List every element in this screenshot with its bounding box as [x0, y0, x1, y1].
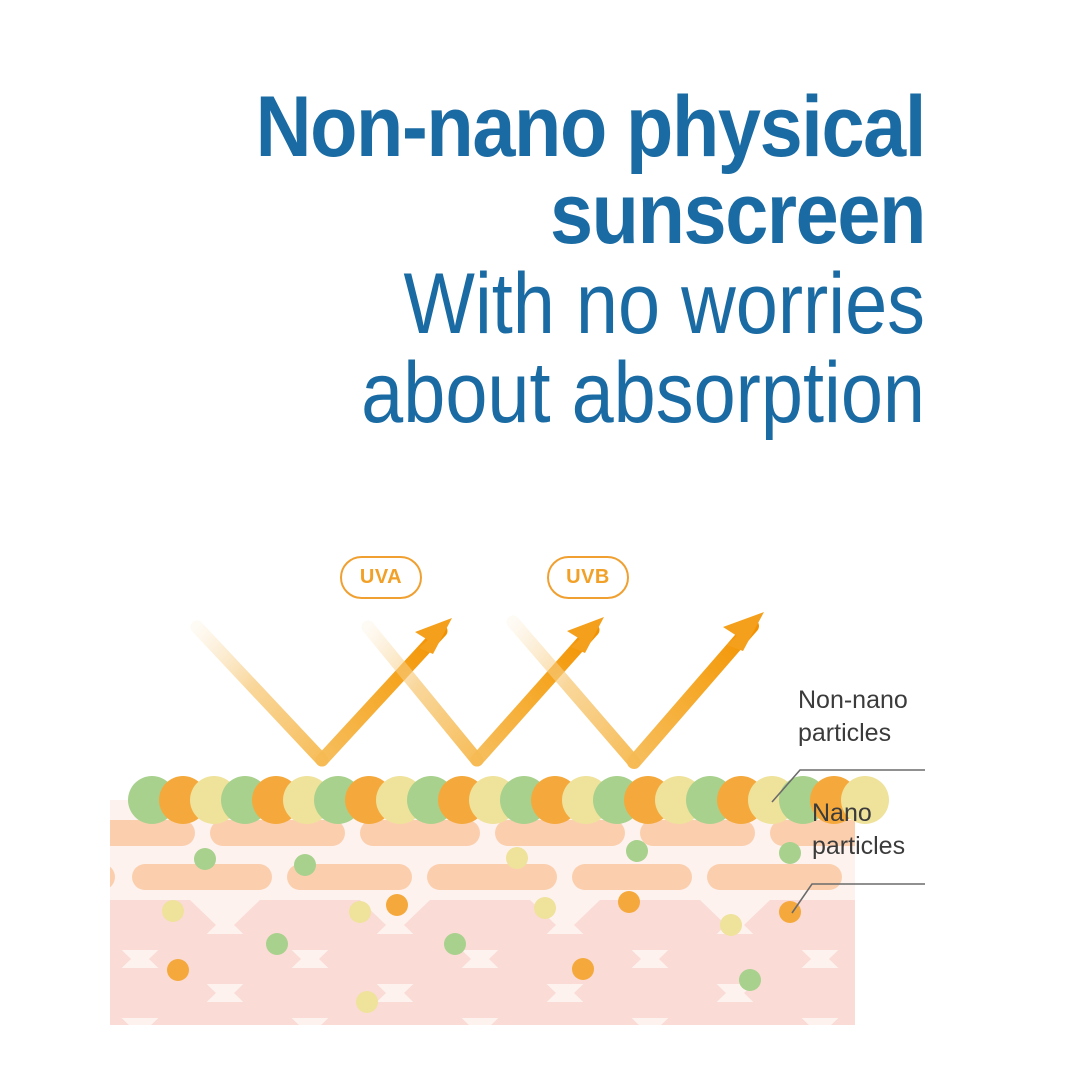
- nano-particle: [618, 891, 640, 913]
- nano-particle: [779, 842, 801, 864]
- dermis-cell-layer: [0, 900, 981, 1052]
- nano-particle: [266, 933, 288, 955]
- non-nano-particles-label: Non-nano particles: [798, 684, 908, 750]
- nano-particle: [349, 901, 371, 923]
- nano-particle: [572, 958, 594, 980]
- uv-ray-group: [197, 612, 764, 762]
- nano-particle: [444, 933, 466, 955]
- nano-particle: [294, 854, 316, 876]
- uvb-badge[interactable]: UVB: [547, 556, 629, 599]
- nano-particle: [626, 840, 648, 862]
- nano-particle: [534, 897, 556, 919]
- uv-ray-arrowhead: [415, 618, 452, 654]
- nano-particles-label: Nano particles: [812, 797, 905, 863]
- uv-ray-arrowhead: [567, 617, 604, 653]
- nano-particle: [506, 847, 528, 869]
- nano-particle: [194, 848, 216, 870]
- uva-badge[interactable]: UVA: [340, 556, 422, 599]
- uv-ray-incoming: [197, 627, 322, 760]
- nano-particle: [162, 900, 184, 922]
- uv-ray-arrowhead: [723, 612, 764, 651]
- nano-particle: [167, 959, 189, 981]
- nano-particle: [386, 894, 408, 916]
- poster-canvas: Non-nano physical sunscreen With no worr…: [0, 0, 1080, 1080]
- non-nano-particle-row: [128, 776, 889, 824]
- skin-absorption-diagram: [0, 0, 1080, 1080]
- nano-particle: [356, 991, 378, 1013]
- nano-particle: [739, 969, 761, 991]
- nano-particle: [720, 914, 742, 936]
